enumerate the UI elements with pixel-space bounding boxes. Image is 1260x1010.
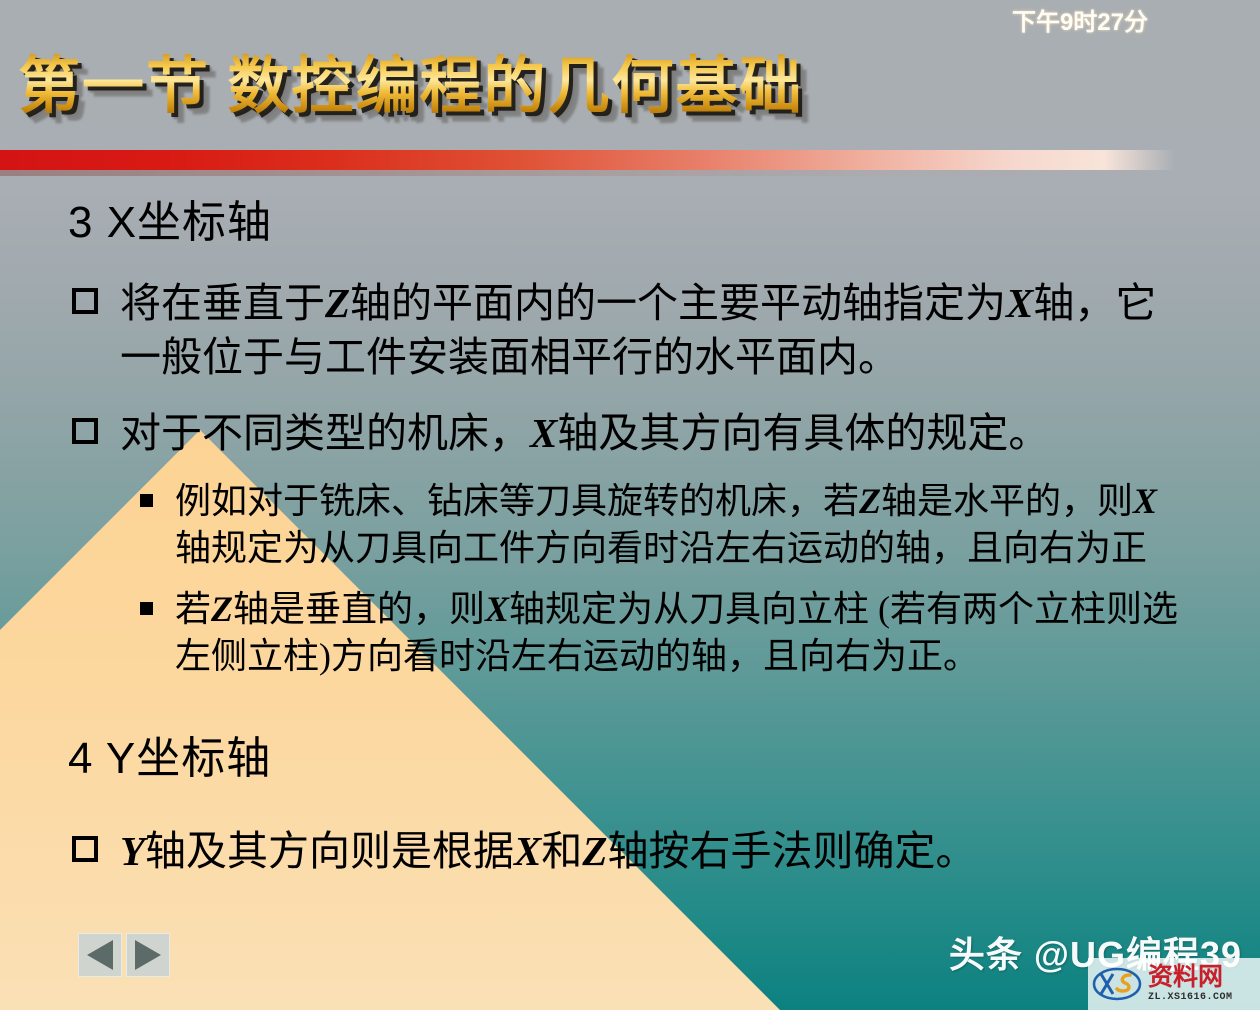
text-run: 对于不同类型的机床， — [120, 410, 530, 456]
section-heading-3: 3 X坐标轴 — [68, 186, 1260, 250]
text-run: 轴是垂直的，则 — [233, 589, 485, 629]
axis-symbol-y: Y — [120, 828, 145, 874]
axis-symbol-x: X — [485, 589, 509, 629]
header-accent-bar — [0, 150, 1175, 170]
text-run: 轴是水平的，则 — [881, 481, 1133, 521]
text-run: 轴按右手法则确定。 — [607, 828, 976, 874]
square-dot-bullet-icon — [140, 494, 153, 507]
bullet-text: 对于不同类型的机床，X轴及其方向有具体的规定。 — [120, 406, 1194, 460]
axis-symbol-z: Z — [211, 589, 233, 629]
axis-symbol-x: X — [1006, 280, 1033, 326]
xs-logo-icon — [1092, 964, 1146, 1004]
bullet-item: Y轴及其方向则是根据X和Z轴按右手法则确定。 — [72, 824, 1194, 878]
text-run: 轴及其方向则是根据 — [145, 828, 514, 874]
text-run: 若 — [175, 589, 211, 629]
previous-slide-button[interactable] — [78, 933, 122, 977]
header-accent-bar-shadow — [0, 170, 1175, 176]
sub-bullet-item: 例如对于铣床、钻床等刀具旋转的机床，若Z轴是水平的，则X轴规定为从刀具向工件方向… — [140, 478, 1190, 572]
sub-bullet-item: 若Z轴是垂直的，则X轴规定为从刀具向立柱 (若有两个立柱则选左侧立柱)方向看时沿… — [140, 586, 1194, 680]
page-title: 第一节 数控编程的几何基础 — [18, 35, 804, 125]
slide-navigation[interactable] — [78, 933, 170, 977]
square-dot-bullet-icon — [140, 602, 153, 615]
clock-label: 下午9时27分 — [1012, 2, 1148, 37]
axis-symbol-x: X — [514, 828, 541, 874]
text-run: 轴及其方向有具体的规定。 — [557, 410, 1049, 456]
axis-symbol-x: X — [1133, 481, 1157, 521]
text-run: 将在垂直于 — [120, 280, 325, 326]
square-bullet-icon — [72, 836, 98, 862]
site-logo-text: 资料网 ZL.XS1616.COM — [1148, 965, 1233, 1003]
site-logo-name: 资料网 — [1148, 965, 1233, 990]
slide-content: 3 X坐标轴 将在垂直于Z轴的平面内的一个主要平动轴指定为X轴，它一般位于与工件… — [0, 186, 1260, 878]
text-run: 轴规定为从刀具向工件方向看时沿左右运动的轴，且向右为正 — [175, 528, 1147, 568]
text-run: 例如对于铣床、钻床等刀具旋转的机床，若 — [175, 481, 859, 521]
axis-symbol-z: Z — [859, 481, 881, 521]
axis-symbol-z: Z — [325, 280, 350, 326]
slide-canvas: 下午9时27分 第一节 数控编程的几何基础 3 X坐标轴 将在垂直于Z轴的平面内… — [0, 0, 1260, 1010]
axis-symbol-z: Z — [582, 828, 607, 874]
bullet-text: 将在垂直于Z轴的平面内的一个主要平动轴指定为X轴，它一般位于与工件安装面相平行的… — [120, 276, 1194, 384]
text-run: 和 — [541, 828, 582, 874]
text-run: 轴的平面内的一个主要平动轴指定为 — [350, 280, 1006, 326]
site-logo-url: ZL.XS1616.COM — [1148, 993, 1233, 1003]
site-logo-watermark: 资料网 ZL.XS1616.COM — [1088, 958, 1260, 1010]
axis-symbol-x: X — [530, 410, 557, 456]
sub-bullet-text: 例如对于铣床、钻床等刀具旋转的机床，若Z轴是水平的，则X轴规定为从刀具向工件方向… — [175, 478, 1190, 572]
next-slide-button[interactable] — [126, 933, 170, 977]
bullet-item: 将在垂直于Z轴的平面内的一个主要平动轴指定为X轴，它一般位于与工件安装面相平行的… — [72, 276, 1194, 384]
triangle-right-icon — [135, 940, 161, 970]
sub-bullet-text: 若Z轴是垂直的，则X轴规定为从刀具向立柱 (若有两个立柱则选左侧立柱)方向看时沿… — [175, 586, 1194, 680]
square-bullet-icon — [72, 418, 98, 444]
triangle-left-icon — [87, 940, 113, 970]
section-heading-3-text: 3 X坐标轴 — [68, 198, 272, 247]
bullet-text: Y轴及其方向则是根据X和Z轴按右手法则确定。 — [120, 824, 1194, 878]
section-heading-4: 4 Y坐标轴 — [68, 722, 1260, 786]
section-heading-4-text: 4 Y坐标轴 — [68, 734, 271, 783]
bullet-item: 对于不同类型的机床，X轴及其方向有具体的规定。 — [72, 406, 1194, 460]
square-bullet-icon — [72, 288, 98, 314]
